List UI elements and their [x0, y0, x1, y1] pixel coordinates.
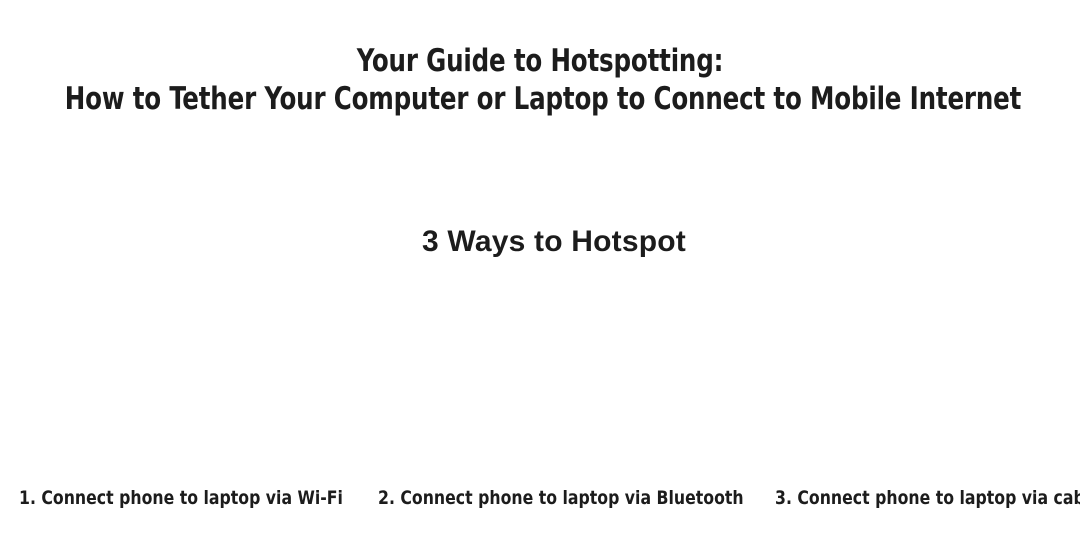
page-title: Your Guide to Hotspotting: How to Tether…	[0, 42, 1080, 118]
illustration-area	[0, 280, 1080, 478]
section-heading: 3 Ways to Hotspot	[0, 222, 1080, 262]
method-caption-cable: 3. Connect phone to laptop via cable	[775, 486, 1080, 510]
caption-row: 1. Connect phone to laptop via Wi-Fi 2. …	[0, 486, 1080, 514]
method-caption-wifi: 1. Connect phone to laptop via Wi-Fi	[19, 486, 343, 510]
method-caption-bluetooth: 2. Connect phone to laptop via Bluetooth	[378, 486, 744, 510]
illustration-slot-bluetooth	[360, 280, 720, 478]
title-line-2: How to Tether Your Computer or Laptop to…	[65, 80, 1015, 118]
illustration-slot-cable	[720, 280, 1080, 478]
title-line-1: Your Guide to Hotspotting:	[65, 42, 1015, 80]
infographic-poster: Your Guide to Hotspotting: How to Tether…	[0, 0, 1080, 552]
illustration-slot-wifi	[0, 280, 360, 478]
